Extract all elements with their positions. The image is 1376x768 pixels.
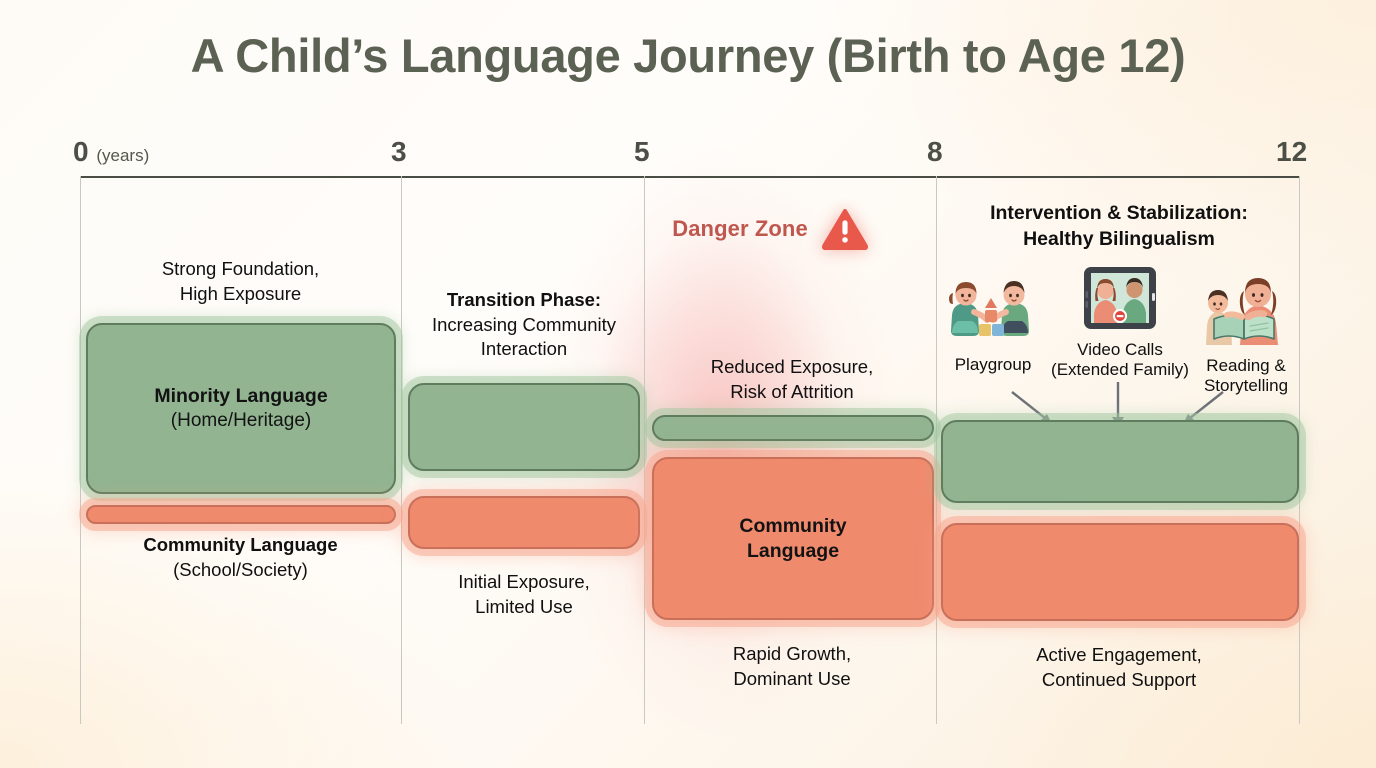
stage4-header: Intervention & Stabilization: Healthy Bi… — [938, 201, 1300, 253]
axis-tick-12: 12 — [1276, 136, 1307, 168]
axis-tick-0-value: 0 — [73, 136, 89, 167]
stage3-bottom-caption: Rapid Growth, Dominant Use — [646, 642, 938, 691]
minority-language-bar-stage3[interactable] — [652, 415, 934, 441]
community-language-bar-stage4[interactable] — [941, 523, 1299, 621]
danger-zone-label: Danger Zone — [625, 208, 915, 250]
minority-language-bar-label: Minority Language (Home/Heritage) — [154, 384, 327, 433]
stage2-header: Transition Phase: Increasing Community I… — [403, 288, 645, 362]
axis-top-line — [80, 176, 1300, 178]
community-language-bar-label-line1: Community — [739, 514, 846, 539]
stage3-mid-caption-line1: Reduced Exposure, — [646, 355, 938, 380]
video-call-tablet-icon — [1081, 265, 1159, 331]
axis-tick-0: 0 (years) — [73, 136, 149, 168]
minority-language-bar-stage4[interactable] — [941, 420, 1299, 503]
danger-zone-text: Danger Zone — [672, 216, 808, 242]
stage2-bottom-caption: Initial Exposure, Limited Use — [403, 570, 645, 619]
stage2-bottom-caption-line2: Limited Use — [403, 595, 645, 620]
gridline-5 — [644, 176, 645, 724]
video-calls-label: Video Calls (Extended Family) — [1050, 340, 1190, 381]
stage4-bottom-caption: Active Engagement, Continued Support — [938, 643, 1300, 692]
stage2-bottom-caption-line1: Initial Exposure, — [403, 570, 645, 595]
community-language-bar-stage1[interactable] — [86, 505, 396, 524]
reading-storytelling-icon — [1198, 275, 1294, 347]
minority-language-bar-stage2[interactable] — [408, 383, 640, 471]
playgroup-label-line1: Playgroup — [941, 355, 1045, 375]
axis-tick-3: 3 — [391, 136, 407, 168]
intervention-reading[interactable]: Reading & Storytelling — [1196, 275, 1296, 397]
community-language-sublabel: (School/Society) — [80, 558, 401, 583]
warning-triangle-icon — [822, 208, 868, 250]
stage1-top-caption: Strong Foundation, High Exposure — [80, 257, 401, 306]
axis-tick-5: 5 — [634, 136, 650, 168]
intervention-playgroup[interactable]: Playgroup — [941, 274, 1045, 375]
minority-language-bar-stage1[interactable]: Minority Language (Home/Heritage) — [86, 323, 396, 494]
stage3-bottom-caption-line1: Rapid Growth, — [646, 642, 938, 667]
video-calls-label-line1: Video Calls — [1050, 340, 1190, 360]
intervention-video-calls[interactable]: Video Calls (Extended Family) — [1050, 265, 1190, 381]
axis-unit-label: (years) — [96, 146, 149, 165]
stage4-bottom-caption-line1: Active Engagement, — [938, 643, 1300, 668]
minority-language-sublabel: (Home/Heritage) — [171, 410, 311, 431]
gridline-12 — [1299, 176, 1300, 724]
stage1-top-caption-line2: High Exposure — [80, 282, 401, 307]
stage4-header-line1: Intervention & Stabilization: — [938, 201, 1300, 227]
page-title: A Child’s Language Journey (Birth to Age… — [0, 28, 1376, 83]
stage2-header-line3: Interaction — [403, 337, 645, 362]
reading-label-line1: Reading & — [1196, 356, 1296, 376]
stage4-header-line2: Healthy Bilingualism — [938, 227, 1300, 253]
community-language-bar-label: Community Language — [739, 514, 846, 564]
community-language-bar-stage3[interactable]: Community Language — [652, 457, 934, 620]
stage2-header-title: Transition Phase: — [403, 288, 645, 313]
minority-language-name: Minority Language — [154, 384, 327, 409]
axis-tick-8: 8 — [927, 136, 943, 168]
stage2-header-line2: Increasing Community — [403, 313, 645, 338]
timeline-axis: 0 (years) 3 5 8 12 — [80, 136, 1300, 176]
stage3-mid-caption: Reduced Exposure, Risk of Attrition — [646, 355, 938, 404]
playgroup-label: Playgroup — [941, 355, 1045, 375]
stage4-bottom-caption-line2: Continued Support — [938, 668, 1300, 693]
stage3-mid-caption-line2: Risk of Attrition — [646, 380, 938, 405]
stage3-bottom-caption-line2: Dominant Use — [646, 667, 938, 692]
video-calls-label-line2: (Extended Family) — [1050, 360, 1190, 380]
stage1-top-caption-line1: Strong Foundation, — [80, 257, 401, 282]
community-language-bar-label-line2: Language — [739, 539, 846, 564]
playgroup-children-icon — [946, 274, 1040, 346]
stage1-bottom-caption: Community Language (School/Society) — [80, 533, 401, 582]
community-language-bar-stage2[interactable] — [408, 496, 640, 549]
community-language-name: Community Language — [80, 533, 401, 558]
gridline-3 — [401, 176, 402, 724]
